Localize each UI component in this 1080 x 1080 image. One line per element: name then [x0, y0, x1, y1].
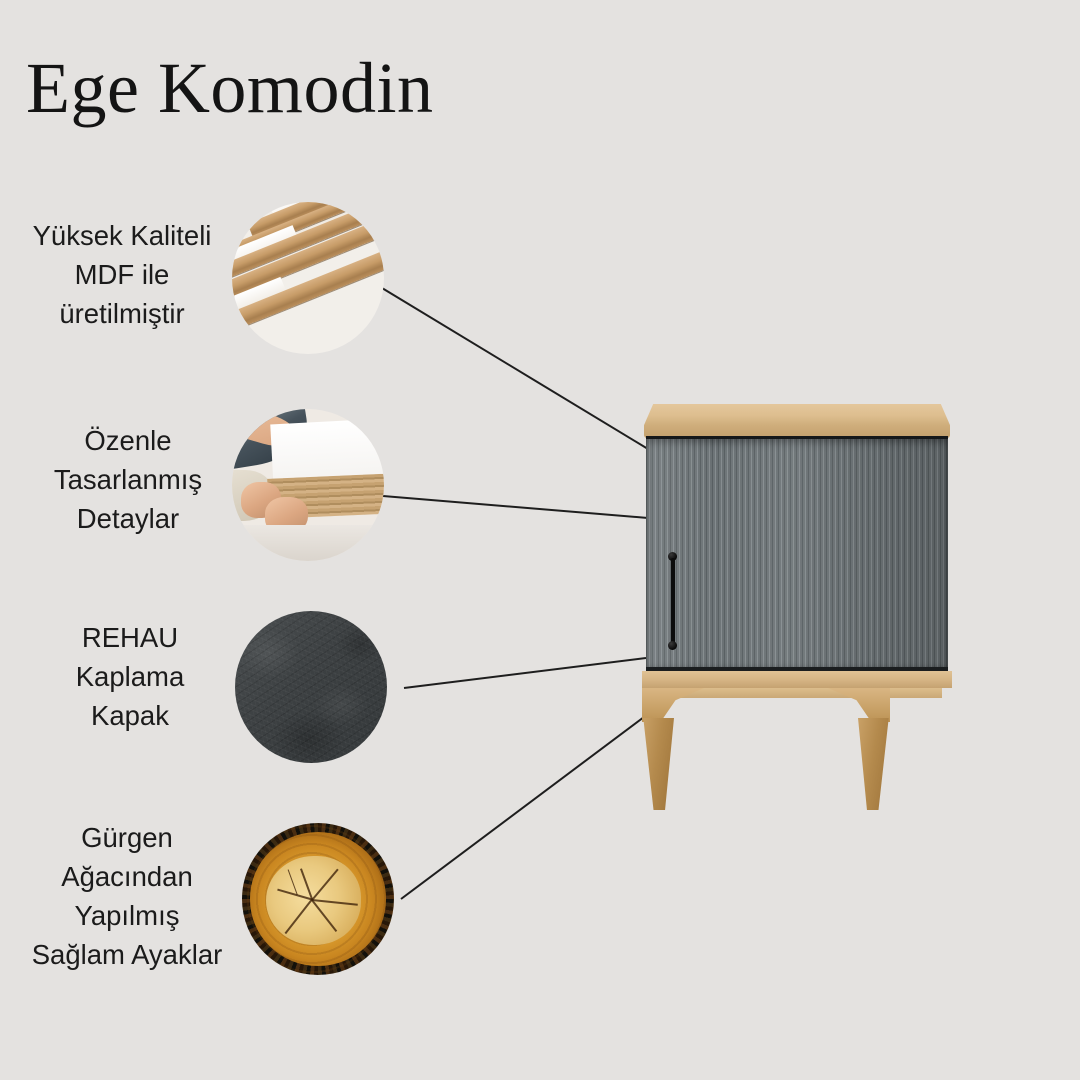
feature-label-rehau: REHAU Kaplama Kapak: [30, 618, 230, 735]
connector-line-rehau: [404, 658, 646, 688]
product-base-rail: [642, 671, 952, 688]
product-fluted-door: [646, 439, 948, 671]
handle-knob-bottom: [668, 641, 677, 650]
stacked-mdf-boards-image: [232, 202, 384, 354]
leg-left-shaft: [642, 718, 674, 810]
feature-thumbnail-legs: [242, 823, 394, 975]
feature-thumbnail-rehau: [235, 611, 387, 763]
door-sheen-overlay: [646, 439, 948, 671]
leg-right-shaft: [858, 718, 890, 810]
tree-trunk-cross-section-image: [242, 823, 394, 975]
feature-label-details: Özenle Tasarlanmış Detaylar: [28, 421, 228, 538]
product-nightstand: [636, 404, 958, 778]
feature-thumbnail-details: [232, 409, 384, 561]
connector-line-mdf: [382, 288, 648, 449]
feature-thumbnail-mdf: [232, 202, 384, 354]
connector-line-details: [383, 496, 648, 518]
product-door-handle: [668, 552, 677, 650]
connector-line-legs: [401, 714, 648, 899]
page-title: Ege Komodin: [26, 52, 433, 124]
rehau-coating-texture-image: [235, 611, 387, 763]
feature-label-mdf: Yüksek Kaliteli MDF ile üretilmiştir: [8, 216, 236, 333]
infographic-page: Ege Komodin Yüksek Kaliteli MDF ile üret…: [0, 0, 1080, 1080]
product-top-slab: [644, 404, 950, 438]
craftsman-hands-image: [232, 409, 384, 561]
feature-label-legs: Gürgen Ağacından Yapılmış Sağlam Ayaklar: [16, 818, 238, 974]
handle-bar: [671, 558, 675, 644]
